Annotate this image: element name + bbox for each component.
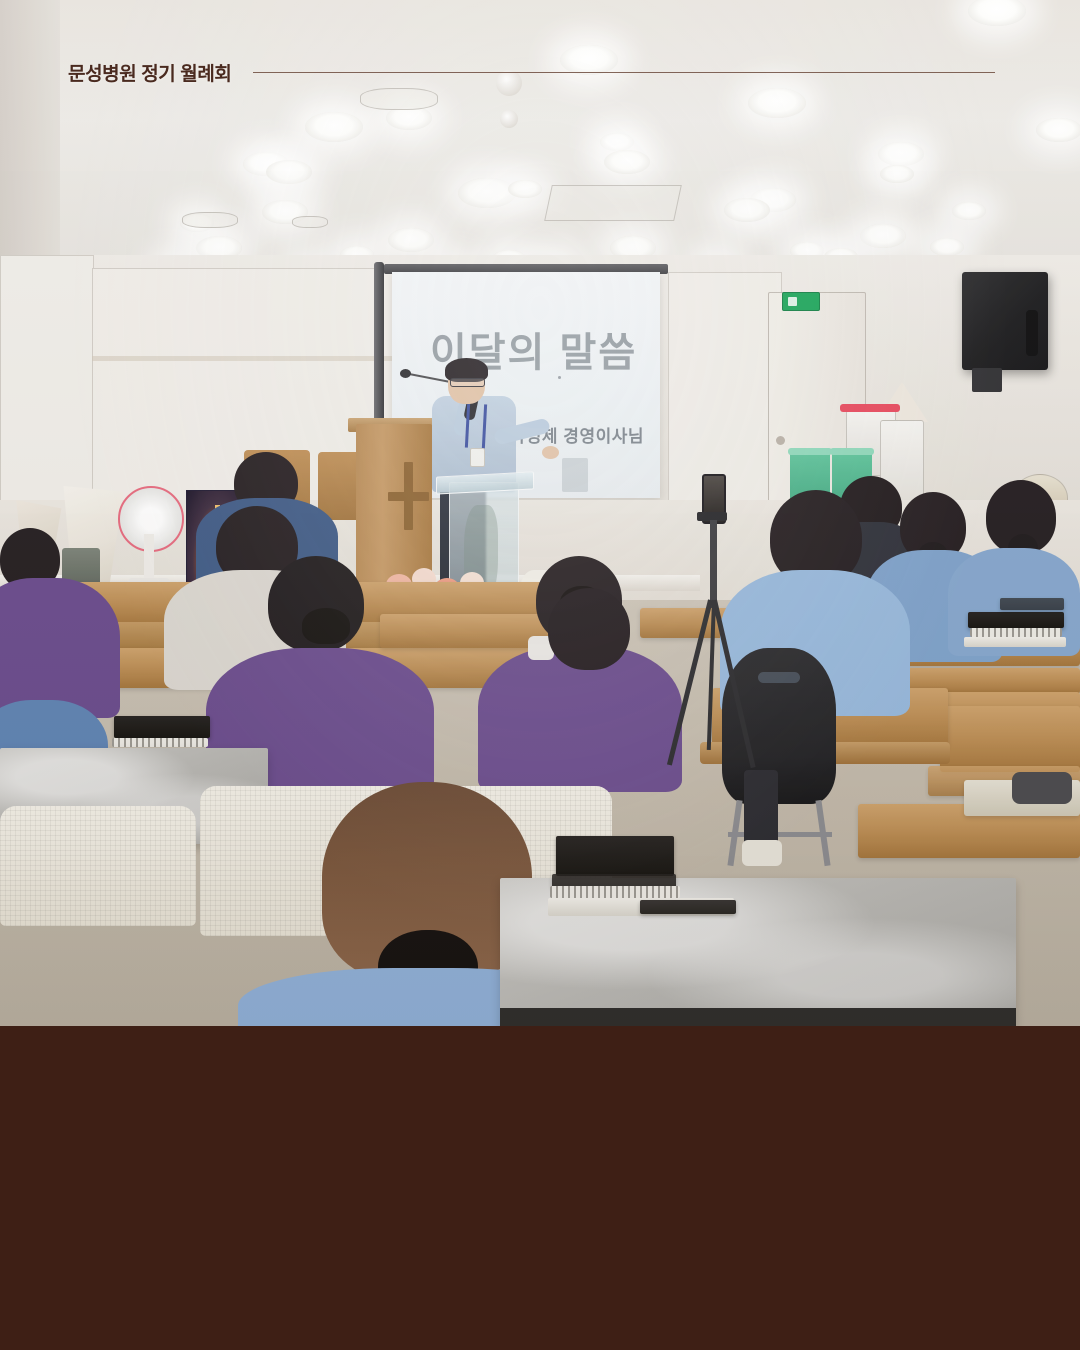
tripod-column [710, 520, 717, 608]
slide-watermark [562, 458, 588, 492]
emergency-exit-sign-icon [782, 292, 820, 311]
wall-panel [0, 255, 94, 507]
bible-book [114, 716, 210, 738]
ceiling-light [266, 160, 312, 184]
ceiling-light [1036, 118, 1080, 142]
recycling-bin-lid [788, 448, 832, 455]
notebook [964, 637, 1066, 647]
ceiling-light [458, 178, 516, 208]
mesh-office-chair[interactable] [722, 648, 836, 804]
upholstered-seat[interactable] [0, 806, 196, 926]
sandal [1012, 772, 1072, 804]
audience-head [548, 588, 630, 670]
ceiling-light [860, 224, 906, 248]
bible-book [968, 612, 1064, 628]
ceiling-light [878, 142, 924, 166]
book [1000, 598, 1064, 610]
table-edge [500, 1008, 1016, 1027]
speaker-bracket [972, 368, 1002, 392]
wall-trim [92, 356, 392, 361]
speaker-id-badge [470, 448, 485, 467]
cross-icon [388, 492, 429, 501]
header-bar: 문성병원 정기 월례회 [0, 54, 1080, 90]
ceiling-light [724, 198, 770, 222]
book [640, 900, 736, 914]
sprinkler-head-icon [500, 110, 518, 128]
boom-microphone-head [400, 369, 411, 378]
ceiling-light [748, 88, 806, 118]
ceiling-light [604, 150, 650, 174]
ceiling-vent [182, 212, 238, 228]
ceiling-light [952, 202, 986, 220]
hair-bow [302, 608, 350, 644]
shoe [742, 840, 782, 866]
spiral-notebook [112, 738, 208, 747]
speaker-glasses [450, 378, 485, 387]
caption-band: “ 10월 정기 월례회 이달의 말씀 | 병원장님 월례사 | 친절직원 문성… [0, 1026, 1080, 1350]
ceiling-light [508, 180, 542, 198]
ceiling-light [880, 165, 914, 183]
bible-book [556, 836, 674, 876]
ceiling-light [930, 238, 964, 256]
ceiling-vent [360, 88, 438, 110]
monthly-meeting-card: 이달의 말씀 박영제 경영이사님 [0, 0, 1080, 1350]
ceiling-light [600, 133, 634, 151]
pew-row [940, 706, 1080, 772]
slide-dot [558, 376, 561, 379]
speaker-right-hand [542, 446, 559, 459]
spiral-notebook [970, 628, 1062, 637]
water-cooler-lid [840, 404, 900, 412]
pa-speaker [962, 272, 1048, 370]
audience-body [0, 578, 120, 718]
event-photo: 이달의 말씀 박영제 경영이사님 [0, 0, 1080, 1027]
ceiling-vent [544, 185, 682, 221]
recycling-bin-lid [830, 448, 874, 455]
header-label: 문성병원 정기 월례회 [68, 59, 231, 86]
ceiling-vent [292, 216, 328, 228]
ceiling-light [388, 228, 434, 252]
speaker-lanyard [465, 404, 487, 449]
door-knob-icon[interactable] [776, 436, 785, 445]
header-rule [253, 72, 995, 73]
spiral-notebook [550, 886, 680, 898]
ceiling-light [305, 112, 363, 142]
